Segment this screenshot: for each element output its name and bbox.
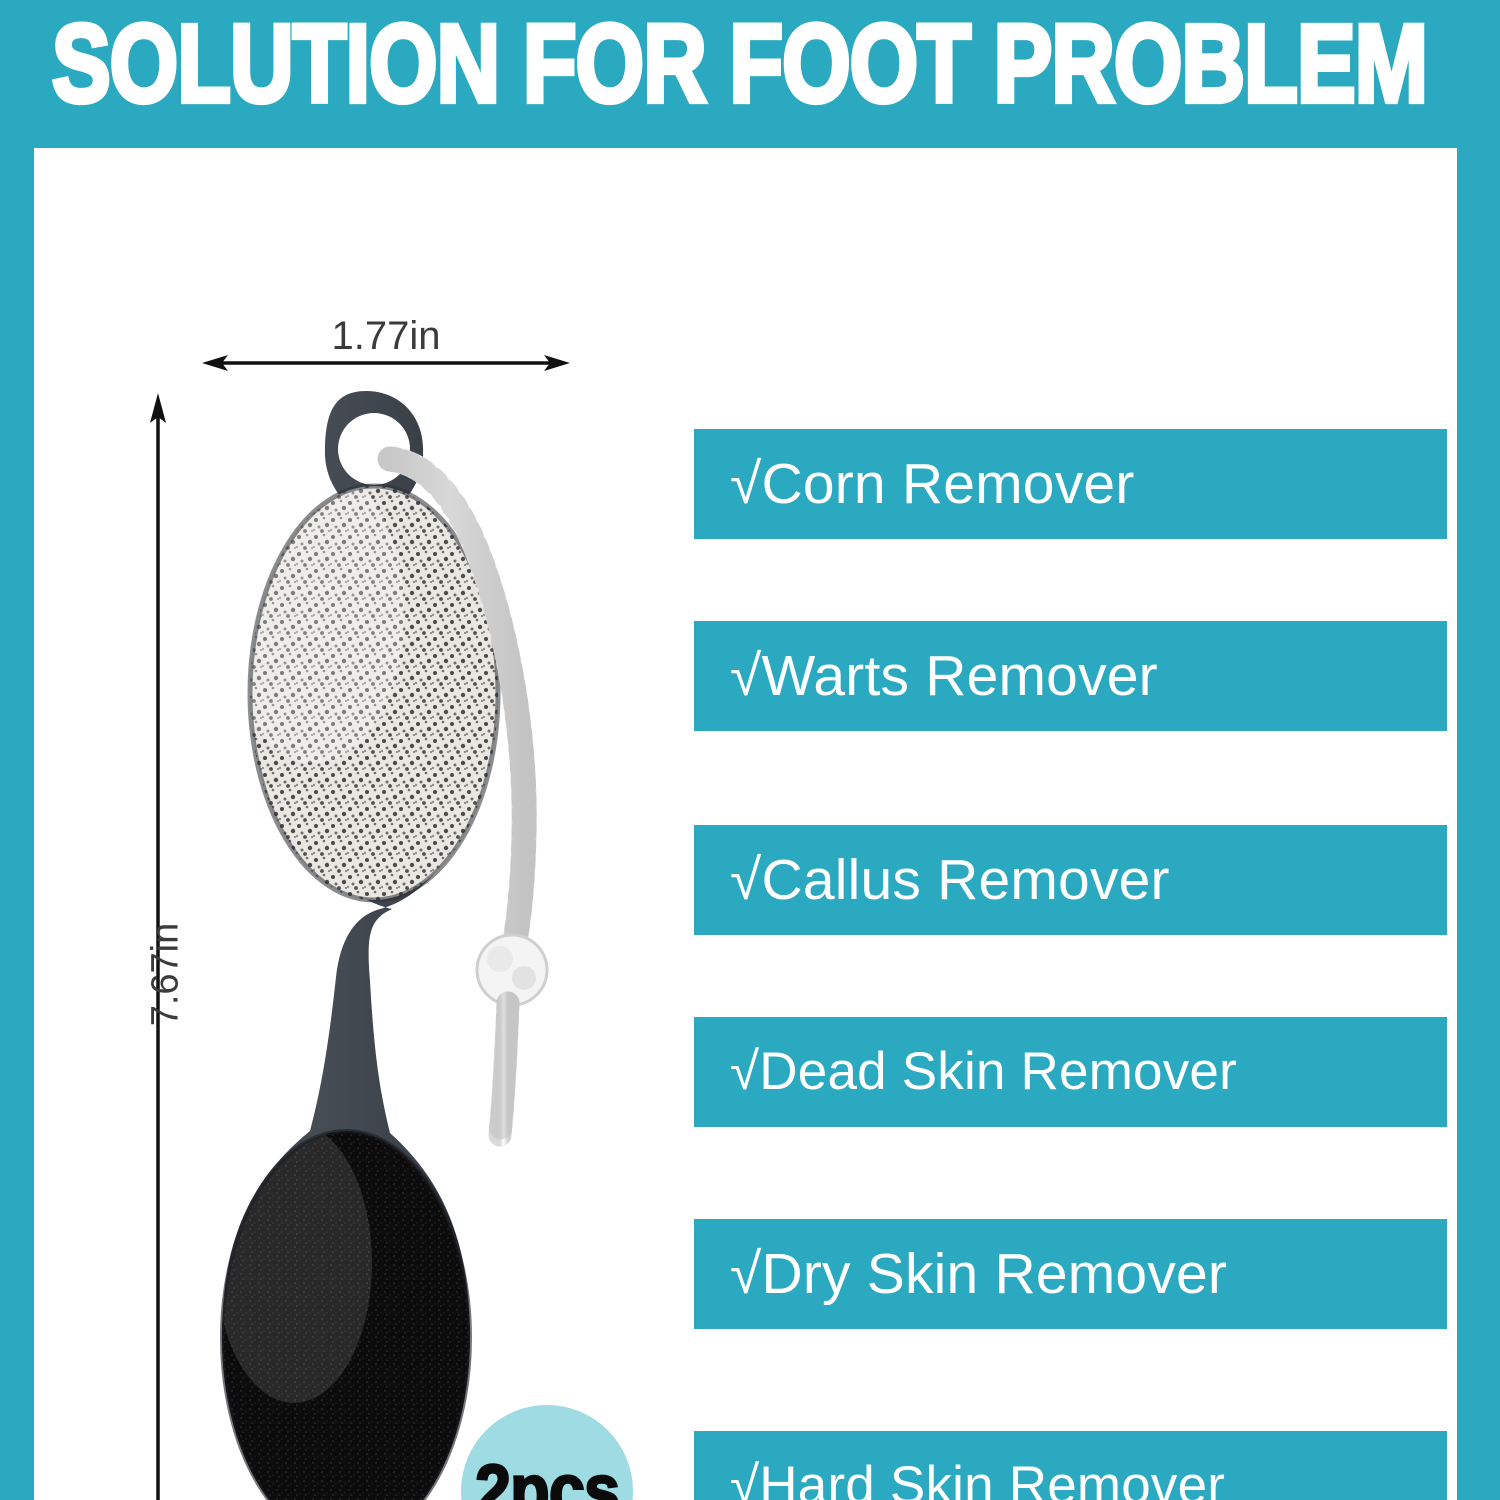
- height-dimension: 7.67in: [138, 393, 178, 1500]
- product-image: [194, 363, 634, 1500]
- feature-label: √Corn Remover: [694, 452, 1135, 516]
- product-infographic: SOLUTION FOR FOOT PROBLEM 1.77in 7.67in: [0, 0, 1500, 1500]
- emery-pad: [216, 1123, 470, 1500]
- feature-label: √Warts Remover: [694, 644, 1158, 708]
- feature-label: √Callus Remover: [694, 848, 1170, 912]
- feature-bar-warts-remover: √Warts Remover: [694, 621, 1447, 731]
- header-banner: SOLUTION FOR FOOT PROBLEM: [0, 0, 1500, 148]
- feature-list: √Corn Remover √Warts Remover √Callus Rem…: [694, 429, 1447, 1500]
- feature-label: √Dead Skin Remover: [694, 1040, 1237, 1104]
- quantity-badge-label: 2pcs: [475, 1455, 619, 1500]
- feature-bar-corn-remover: √Corn Remover: [694, 429, 1447, 539]
- feature-label: √Dry Skin Remover: [694, 1242, 1227, 1306]
- feature-label: √Hard Skin Remover: [694, 1454, 1225, 1500]
- height-dimension-label: 7.67in: [145, 875, 188, 1075]
- page-title: SOLUTION FOR FOOT PROBLEM: [52, 6, 1235, 123]
- feature-bar-callus-remover: √Callus Remover: [694, 825, 1447, 935]
- content-panel: 1.77in 7.67in: [34, 148, 1457, 1500]
- feature-bar-dead-skin-remover: √Dead Skin Remover: [694, 1017, 1447, 1127]
- feature-bar-dry-skin-remover: √Dry Skin Remover: [694, 1219, 1447, 1329]
- feature-bar-hard-skin-remover: √Hard Skin Remover: [694, 1431, 1447, 1500]
